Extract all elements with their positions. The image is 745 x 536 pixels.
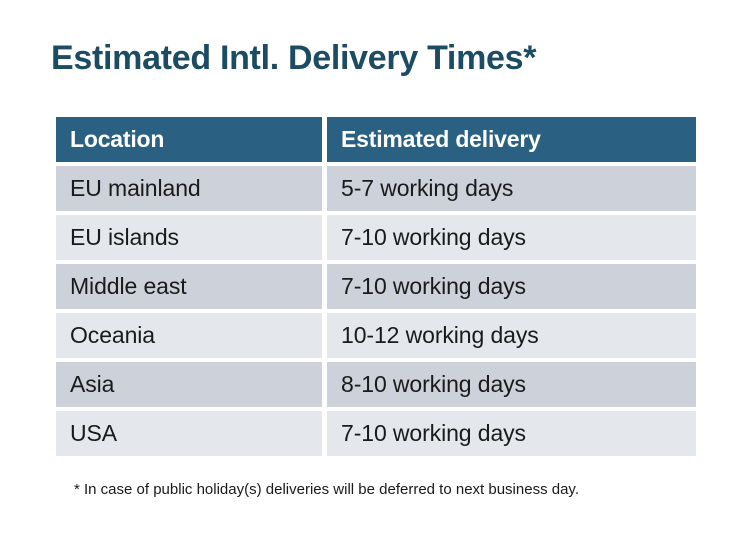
column-header-location: Location (56, 117, 322, 162)
table-header-row: Location Estimated delivery (56, 117, 696, 162)
cell-estimated-delivery: 7-10 working days (327, 411, 696, 456)
table-row: Oceania 10-12 working days (56, 313, 696, 358)
table-row: USA 7-10 working days (56, 411, 696, 456)
cell-estimated-delivery: 8-10 working days (327, 362, 696, 407)
table-row: Asia 8-10 working days (56, 362, 696, 407)
table-header: Location Estimated delivery (56, 117, 696, 162)
cell-location: EU mainland (56, 166, 322, 211)
cell-estimated-delivery: 5-7 working days (327, 166, 696, 211)
table-row: Middle east 7-10 working days (56, 264, 696, 309)
cell-location: Oceania (56, 313, 322, 358)
page-title: Estimated Intl. Delivery Times* (51, 36, 536, 80)
cell-estimated-delivery: 7-10 working days (327, 215, 696, 260)
table-body: EU mainland 5-7 working days EU islands … (56, 166, 696, 456)
delivery-times-table: Location Estimated delivery EU mainland … (51, 113, 701, 460)
cell-location: USA (56, 411, 322, 456)
cell-location: Asia (56, 362, 322, 407)
table-row: EU mainland 5-7 working days (56, 166, 696, 211)
footnote: * In case of public holiday(s) deliverie… (74, 479, 579, 500)
table-row: EU islands 7-10 working days (56, 215, 696, 260)
cell-estimated-delivery: 10-12 working days (327, 313, 696, 358)
column-header-estimated-delivery: Estimated delivery (327, 117, 696, 162)
cell-location: Middle east (56, 264, 322, 309)
delivery-times-page: Estimated Intl. Delivery Times* Location… (0, 0, 745, 536)
cell-estimated-delivery: 7-10 working days (327, 264, 696, 309)
cell-location: EU islands (56, 215, 322, 260)
